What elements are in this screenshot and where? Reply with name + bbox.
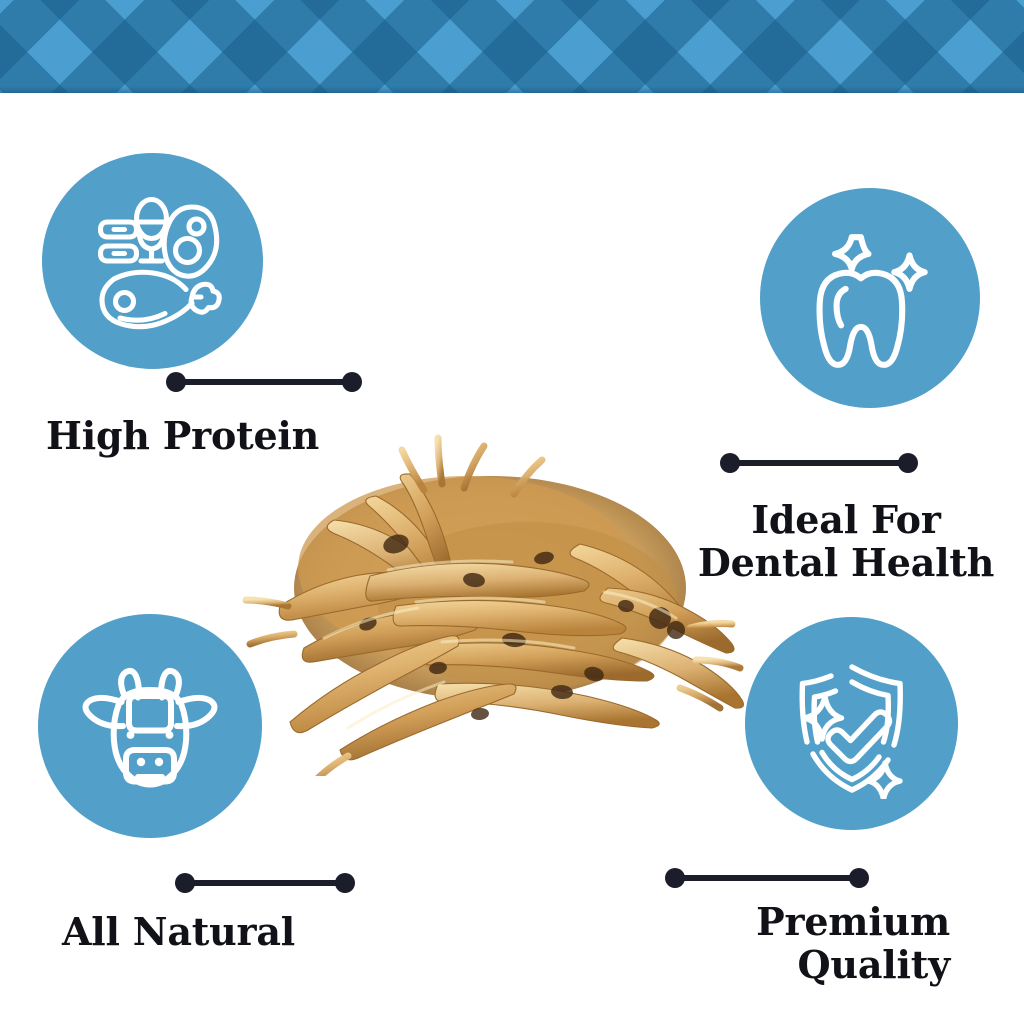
feature-icon-circle-high-protein xyxy=(42,153,263,369)
feature-label-dental-health: Ideal For Dental Health xyxy=(686,498,1006,585)
feature-icon-circle-premium-quality xyxy=(745,617,958,830)
divider-all-natural xyxy=(175,873,355,893)
feature-label-high-protein: High Protein xyxy=(46,414,376,457)
cow-head-icon xyxy=(75,651,225,801)
divider-dot-right xyxy=(898,453,918,473)
gingham-stripes-backward xyxy=(0,0,1024,93)
divider-dot-right xyxy=(335,873,355,893)
feature-icon-circle-all-natural xyxy=(38,614,262,838)
header-gingham-band xyxy=(0,0,1024,93)
divider-dot-left xyxy=(720,453,740,473)
header-band-shadow xyxy=(0,86,1024,93)
infographic-canvas: High Protein Ideal For Dental Health xyxy=(0,0,1024,1024)
divider-bar xyxy=(675,875,859,881)
divider-dot-left xyxy=(665,868,685,888)
sparkling-tooth-icon xyxy=(794,222,946,374)
divider-dot-left xyxy=(166,372,186,392)
feature-label-premium-quality: Premium Quality xyxy=(640,900,950,987)
divider-dot-left xyxy=(175,873,195,893)
divider-high-protein xyxy=(166,372,362,392)
divider-bar xyxy=(176,379,352,385)
shield-check-icon xyxy=(777,649,927,799)
divider-dental-health xyxy=(720,453,918,473)
divider-bar xyxy=(730,460,908,466)
divider-dot-right xyxy=(849,868,869,888)
protein-foods-icon xyxy=(78,186,228,336)
divider-premium-quality xyxy=(665,868,869,888)
divider-bar xyxy=(185,880,345,886)
feature-icon-circle-dental-health xyxy=(760,188,980,408)
feature-label-all-natural: All Natural xyxy=(62,910,392,953)
divider-dot-right xyxy=(342,372,362,392)
